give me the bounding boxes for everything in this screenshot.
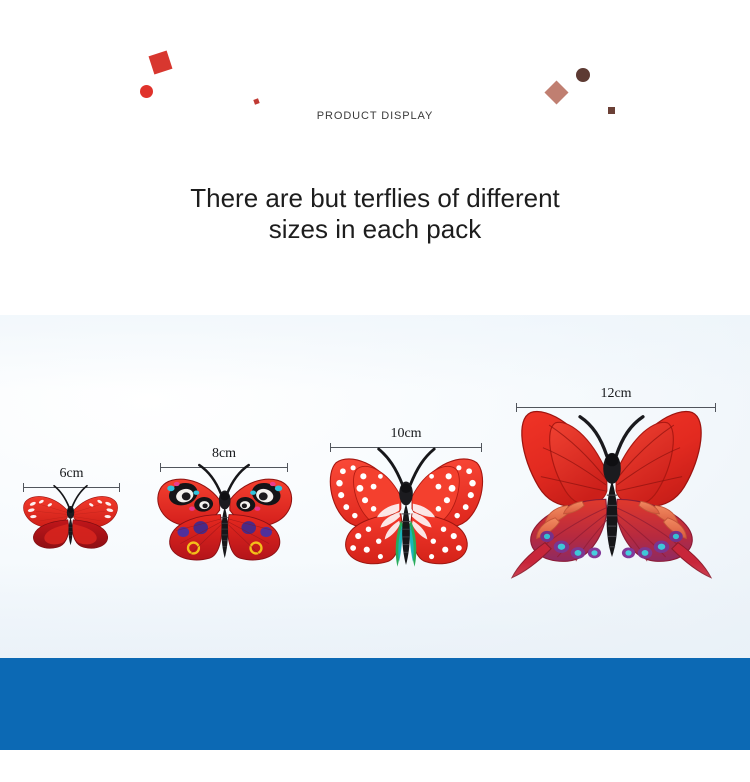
- decor-circle-brown: [576, 68, 590, 82]
- butterfly-12cm: [500, 392, 724, 588]
- page-headline: There are but terflies of different size…: [0, 183, 750, 245]
- headline-line-2: sizes in each pack: [0, 214, 750, 245]
- footer-white-strip: [0, 750, 750, 782]
- header-section: PRODUCT DISPLAY There are but terflies o…: [0, 0, 750, 315]
- butterfly-6cm: [16, 473, 124, 558]
- decor-square-salmon: [544, 80, 568, 104]
- butterfly-8cm: [150, 452, 298, 572]
- butterfly-10cm: [318, 432, 494, 577]
- footer-blue-band: [0, 658, 750, 750]
- product-display-page: PRODUCT DISPLAY There are but terflies o…: [0, 0, 750, 782]
- decor-circle-red: [140, 85, 153, 98]
- decor-square-red-large: [149, 51, 173, 75]
- headline-line-1: There are but terflies of different: [190, 183, 560, 213]
- eyebrow-label: PRODUCT DISPLAY: [0, 110, 750, 122]
- decor-square-red-tiny: [253, 98, 259, 104]
- product-photo-area: 6cm: [0, 315, 750, 658]
